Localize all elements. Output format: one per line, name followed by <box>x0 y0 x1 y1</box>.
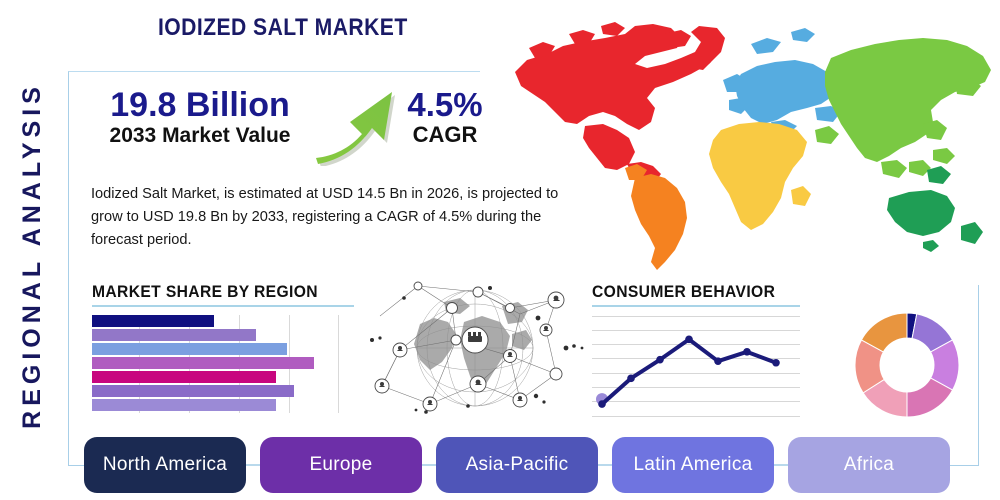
bar-row <box>92 385 354 397</box>
tab-connector <box>422 464 436 466</box>
bar-row <box>92 329 354 341</box>
market-value: 19.8 Billion <box>90 88 310 124</box>
regional-analysis-side-label: REGIONAL ANALYSIS <box>10 60 54 450</box>
cagr-caption: CAGR <box>390 123 500 147</box>
hero-stats: 19.8 Billion 2033 Market Value 4.5% CAGR <box>90 88 510 172</box>
region-tab-europe[interactable]: Europe <box>260 437 422 493</box>
market-share-title: MARKET SHARE BY REGION <box>92 282 333 302</box>
page-title: IODIZED SALT MARKET <box>158 14 408 42</box>
consumer-behavior-rule <box>592 305 800 307</box>
map-region-oceania <box>887 166 983 252</box>
global-network-icon <box>360 278 590 420</box>
market-value-block: 19.8 Billion 2033 Market Value <box>90 88 310 147</box>
bar-row <box>92 315 354 327</box>
region-tab-asia-pacific[interactable]: Asia-Pacific <box>436 437 598 493</box>
market-share-bar-chart <box>92 315 354 413</box>
donut-segments <box>848 306 966 424</box>
line-series <box>592 316 790 416</box>
region-tabs: North AmericaEuropeAsia-PacificLatin Ame… <box>84 437 950 493</box>
market-value-caption: 2033 Market Value <box>90 124 310 147</box>
market-share-panel: MARKET SHARE BY REGION <box>92 282 354 413</box>
cagr-value: 4.5% <box>390 88 500 123</box>
bar-4 <box>92 357 314 369</box>
region-tab-africa[interactable]: Africa <box>788 437 950 493</box>
world-map-icon <box>485 12 997 274</box>
growth-arrow-icon <box>312 86 402 166</box>
line-gridline <box>592 416 800 417</box>
map-region-south-america <box>625 164 687 270</box>
consumer-behavior-title: CONSUMER BEHAVIOR <box>592 282 783 302</box>
consumer-behavior-panel: CONSUMER BEHAVIOR <box>592 282 800 416</box>
map-region-africa <box>709 122 811 230</box>
bar-6 <box>92 385 294 397</box>
cagr-block: 4.5% CAGR <box>390 88 500 147</box>
bar-2 <box>92 329 256 341</box>
side-label-text: REGIONAL ANALYSIS <box>18 82 47 429</box>
bar-5 <box>92 371 276 383</box>
region-tab-north-america[interactable]: North America <box>84 437 246 493</box>
segment-donut-chart <box>848 306 966 424</box>
bar-row <box>92 343 354 355</box>
tab-connector <box>246 464 260 466</box>
region-tab-latin-america[interactable]: Latin America <box>612 437 774 493</box>
map-region-asia <box>815 38 991 178</box>
bar-row <box>92 371 354 383</box>
consumer-behavior-line-chart <box>592 316 800 416</box>
map-region-north-america <box>515 22 725 182</box>
bar-row <box>92 399 354 411</box>
bar-row <box>92 357 354 369</box>
bar-3 <box>92 343 287 355</box>
bar-1 <box>92 315 214 327</box>
map-region-europe <box>723 28 841 134</box>
tab-connector <box>774 464 788 466</box>
tab-connector <box>598 464 612 466</box>
bar-7 <box>92 399 276 411</box>
market-share-rule <box>92 305 354 307</box>
